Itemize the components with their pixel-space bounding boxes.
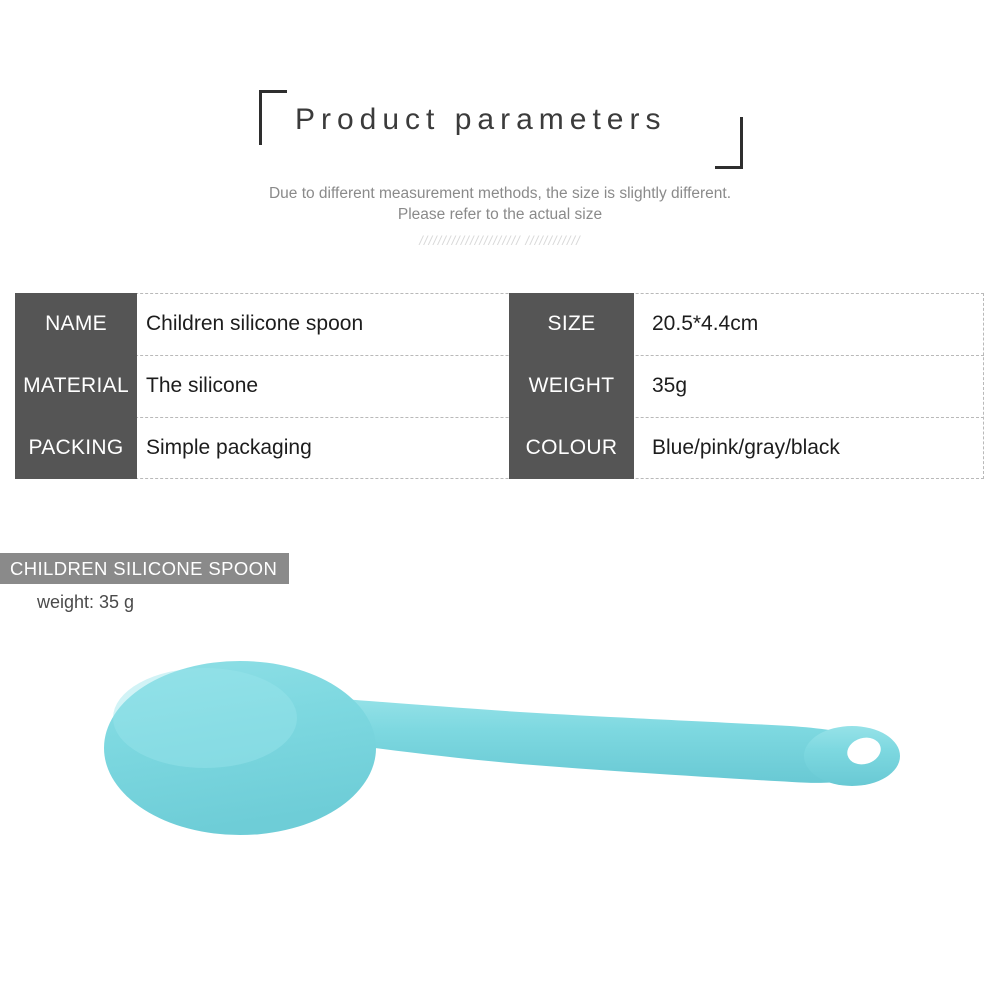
product-weight-label: weight: 35 g xyxy=(37,592,134,613)
cell-label-weight: WEIGHT xyxy=(509,355,634,417)
tick-ornament: ////////////////////// //////////// xyxy=(0,233,1000,248)
product-photo-area: 4.4CM 20.5CM xyxy=(0,630,1000,900)
spec-table: NAME Children silicone spoon SIZE 20.5*4… xyxy=(15,293,984,479)
spoon-illustration xyxy=(0,630,1000,900)
product-parameters-page: Product parameters Due to different meas… xyxy=(0,0,1000,1000)
cell-value-material: The silicone xyxy=(146,355,258,417)
bracket-top-left-decoration xyxy=(259,90,287,145)
cell-label-material: MATERIAL xyxy=(15,355,137,417)
page-header: Product parameters Due to different meas… xyxy=(0,0,1000,270)
page-title: Product parameters xyxy=(295,103,666,137)
cell-value-colour: Blue/pink/gray/black xyxy=(652,417,840,479)
cell-value-packing: Simple packaging xyxy=(146,417,312,479)
product-name-banner: CHILDREN SILICONE SPOON xyxy=(0,553,289,584)
cell-label-size: SIZE xyxy=(509,293,634,355)
spoon-handle xyxy=(300,696,888,783)
page-subtitle: Due to different measurement methods, th… xyxy=(0,183,1000,225)
subtitle-line-2: Please refer to the actual size xyxy=(0,204,1000,225)
subtitle-line-1: Due to different measurement methods, th… xyxy=(0,183,1000,204)
cell-value-size: 20.5*4.4cm xyxy=(652,293,758,355)
table-row: NAME Children silicone spoon SIZE 20.5*4… xyxy=(15,293,984,355)
cell-label-packing: PACKING xyxy=(15,417,137,479)
cell-value-weight: 35g xyxy=(652,355,687,417)
bowl-highlight xyxy=(113,668,297,768)
table-row: MATERIAL The silicone WEIGHT 35g xyxy=(15,355,984,417)
table-row: PACKING Simple packaging COLOUR Blue/pin… xyxy=(15,417,984,479)
cell-label-colour: COLOUR xyxy=(509,417,634,479)
bracket-bottom-right-decoration xyxy=(715,117,743,169)
cell-value-name: Children silicone spoon xyxy=(146,293,363,355)
cell-label-name: NAME xyxy=(15,293,137,355)
